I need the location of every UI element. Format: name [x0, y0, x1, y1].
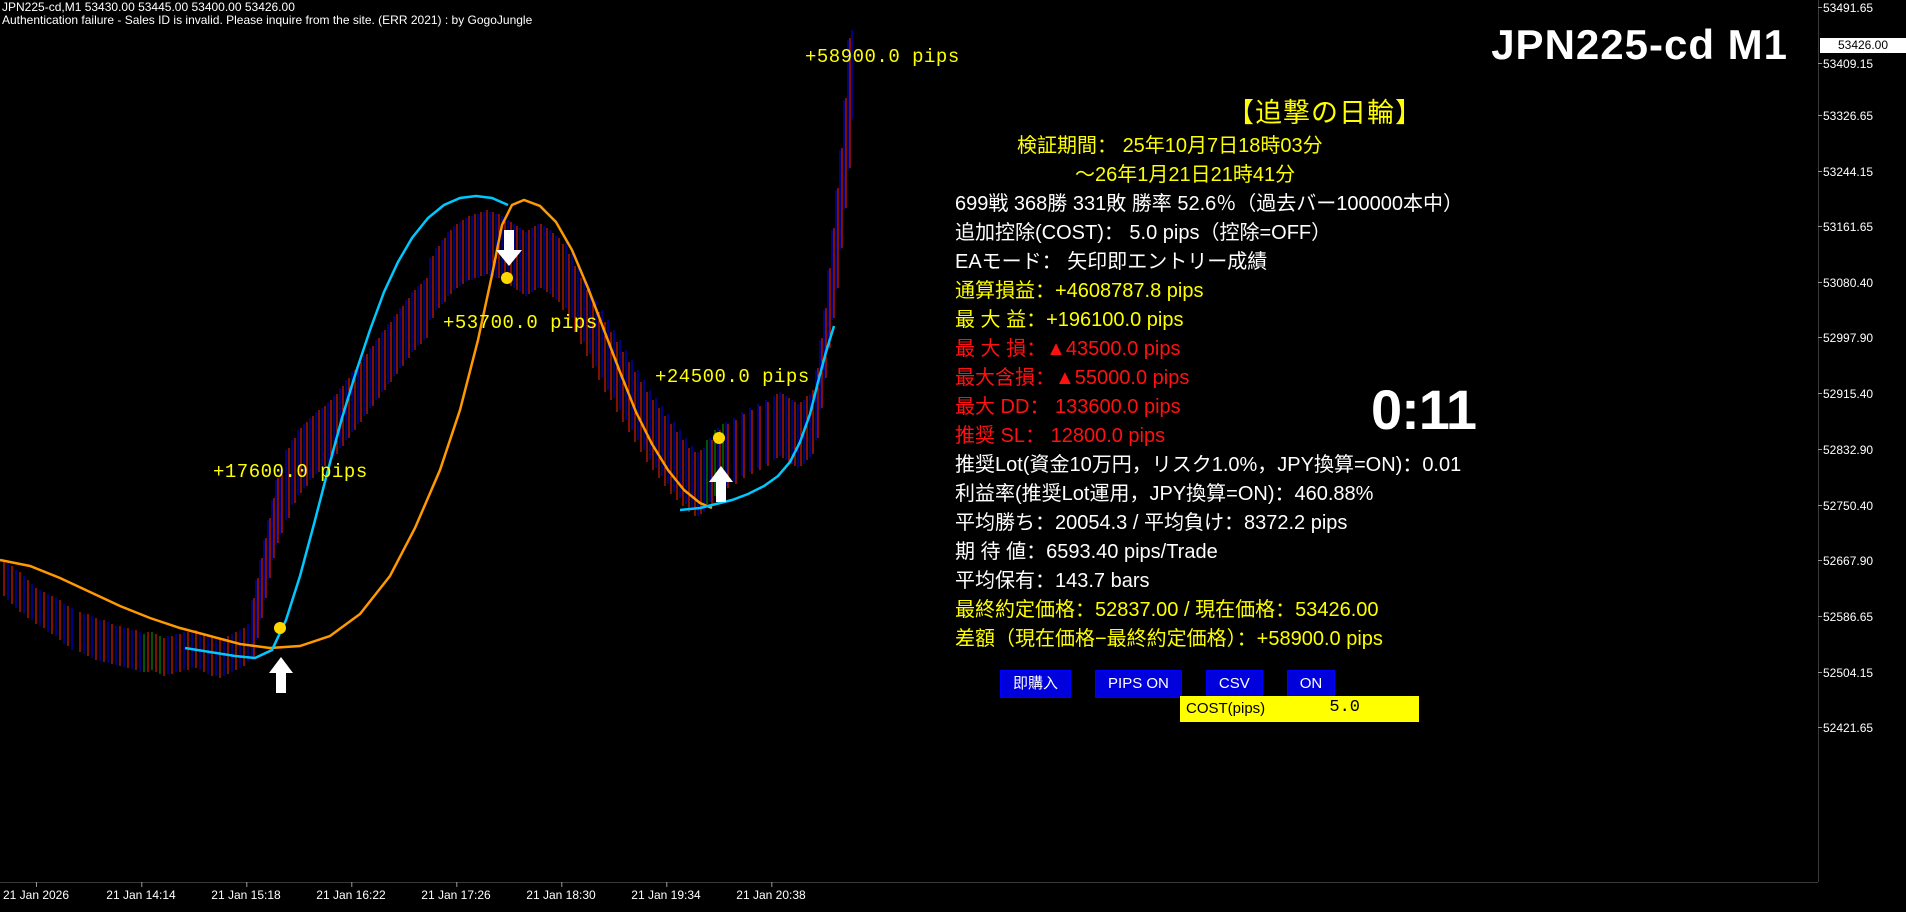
buy-arrow-up-icon [706, 464, 736, 504]
price-tick: 53326.65 [1823, 110, 1873, 122]
trade-pip-label: +58900.0 pips [805, 48, 960, 67]
price-tick: 52915.40 [1823, 388, 1873, 400]
average-win-loss-line: 平均勝ち：20054.3 / 平均負け：8372.2 pips [955, 509, 1695, 538]
recommended-lot-line: 推奨Lot(資金10万円，リスク1.0%，JPY換算=ON)：0.01 [955, 451, 1695, 480]
max-loss-line: 最 大 損：▲43500.0 pips [955, 335, 1695, 364]
expectancy-line: 期 待 値：6593.40 pips/Trade [955, 538, 1695, 567]
current-price-tag: 53426.00 [1820, 38, 1906, 53]
panel-title: 【追撃の日輪】 [955, 96, 1695, 130]
time-tick: 21 Jan 16:22 [316, 889, 385, 901]
csv-export-button[interactable]: CSV [1206, 670, 1263, 698]
entry-dot-marker [711, 430, 727, 446]
price-tick: 53080.40 [1823, 277, 1873, 289]
bar-countdown-timer: 0:11 [1371, 382, 1476, 438]
price-tick: 52667.90 [1823, 555, 1873, 567]
max-floating-loss-line: 最大含損：▲55000.0 pips [955, 364, 1695, 393]
time-tick: 21 Jan 17:26 [421, 889, 490, 901]
trade-pip-label: +53700.0 pips [443, 314, 598, 333]
max-profit-line: 最 大 益：+196100.0 pips [955, 306, 1695, 335]
trade-pip-label: +24500.0 pips [655, 368, 810, 387]
ea-info-panel: 【追撃の日輪】 検証期間： 25年10月7日18時03分 ～26年1月21日21… [955, 96, 1695, 654]
price-tick: 53244.15 [1823, 166, 1873, 178]
last-fill-price-line: 最終約定価格：52837.00 / 現在価格：53426.00 [955, 596, 1695, 625]
price-difference-line: 差額（現在価格−最終約定価格）：+58900.0 pips [955, 625, 1695, 654]
moving-average-fast-2 [680, 326, 834, 510]
moving-average-slow [0, 200, 712, 648]
trades-summary-line: 699戦 368勝 331敗 勝率 52.6％（過去バー100000本中） [955, 190, 1695, 219]
cost-input-group[interactable]: COST(pips) 5.0 [1180, 696, 1419, 722]
time-tick: 21 Jan 14:14 [106, 889, 175, 901]
price-tick: 53161.65 [1823, 221, 1873, 233]
cost-deduction-line: 追加控除(COST)： 5.0 pips（控除=OFF） [955, 219, 1695, 248]
time-scale[interactable]: 21 Jan 2026 21 Jan 14:14 21 Jan 15:18 21… [0, 882, 1818, 912]
recommended-sl-line: 推奨 SL： 12800.0 pips [955, 422, 1695, 451]
average-hold-line: 平均保有：143.7 bars [955, 567, 1695, 596]
trading-chart-window: JPN225-cd,M1 53430.00 53445.00 53400.00 … [0, 0, 1906, 912]
buy-now-button[interactable]: 即購入 [1000, 670, 1071, 698]
period-line-from: 検証期間： 25年10月7日18時03分 [955, 132, 1695, 161]
price-tick: 52750.40 [1823, 500, 1873, 512]
candle-series [4, 30, 852, 678]
max-drawdown-line: 最大 DD： 133600.0 pips [955, 393, 1695, 422]
time-tick: 21 Jan 15:18 [211, 889, 280, 901]
profit-rate-line: 利益率(推奨Lot運用，JPY換算=ON)：460.88% [955, 480, 1695, 509]
period-label: 検証期間： [1017, 135, 1117, 157]
price-scale[interactable]: 53491.65 53426.00 53409.15 53326.65 5324… [1818, 0, 1906, 882]
price-tick: 53491.65 [1823, 2, 1873, 14]
buy-arrow-up-icon [266, 655, 296, 695]
price-tick: 52832.90 [1823, 444, 1873, 456]
ea-button-row: 即購入 PIPS ON CSV ON [1000, 670, 1335, 698]
entry-dot-marker [499, 270, 515, 286]
cost-field-label: COST(pips) [1180, 696, 1269, 722]
price-tick: 53409.15 [1823, 58, 1873, 70]
time-tick: 21 Jan 19:34 [631, 889, 700, 901]
time-tick: 21 Jan 2026 [3, 889, 69, 901]
total-profit-line: 通算損益：+4608787.8 pips [955, 277, 1695, 306]
time-tick: 21 Jan 18:30 [526, 889, 595, 901]
entry-dot-marker [272, 620, 288, 636]
ea-mode-line: EAモード： 矢印即エントリー成績 [955, 248, 1695, 277]
price-tick: 52586.65 [1823, 611, 1873, 623]
time-tick: 21 Jan 20:38 [736, 889, 805, 901]
period-to-value: ～26年1月21日21時41分 [1075, 164, 1295, 186]
price-tick: 52504.15 [1823, 667, 1873, 679]
trade-pip-label: +17600.0 pips [213, 463, 368, 482]
on-toggle-button[interactable]: ON [1287, 670, 1336, 698]
price-tick: 52421.65 [1823, 722, 1873, 734]
pips-toggle-button[interactable]: PIPS ON [1095, 670, 1182, 698]
cost-input-field[interactable]: 5.0 [1269, 696, 1419, 722]
price-tick: 52997.90 [1823, 332, 1873, 344]
sell-arrow-down-icon [492, 228, 526, 270]
period-line-to: ～26年1月21日21時41分 [955, 161, 1695, 190]
period-from-value: 25年10月7日18時03分 [1123, 135, 1323, 157]
